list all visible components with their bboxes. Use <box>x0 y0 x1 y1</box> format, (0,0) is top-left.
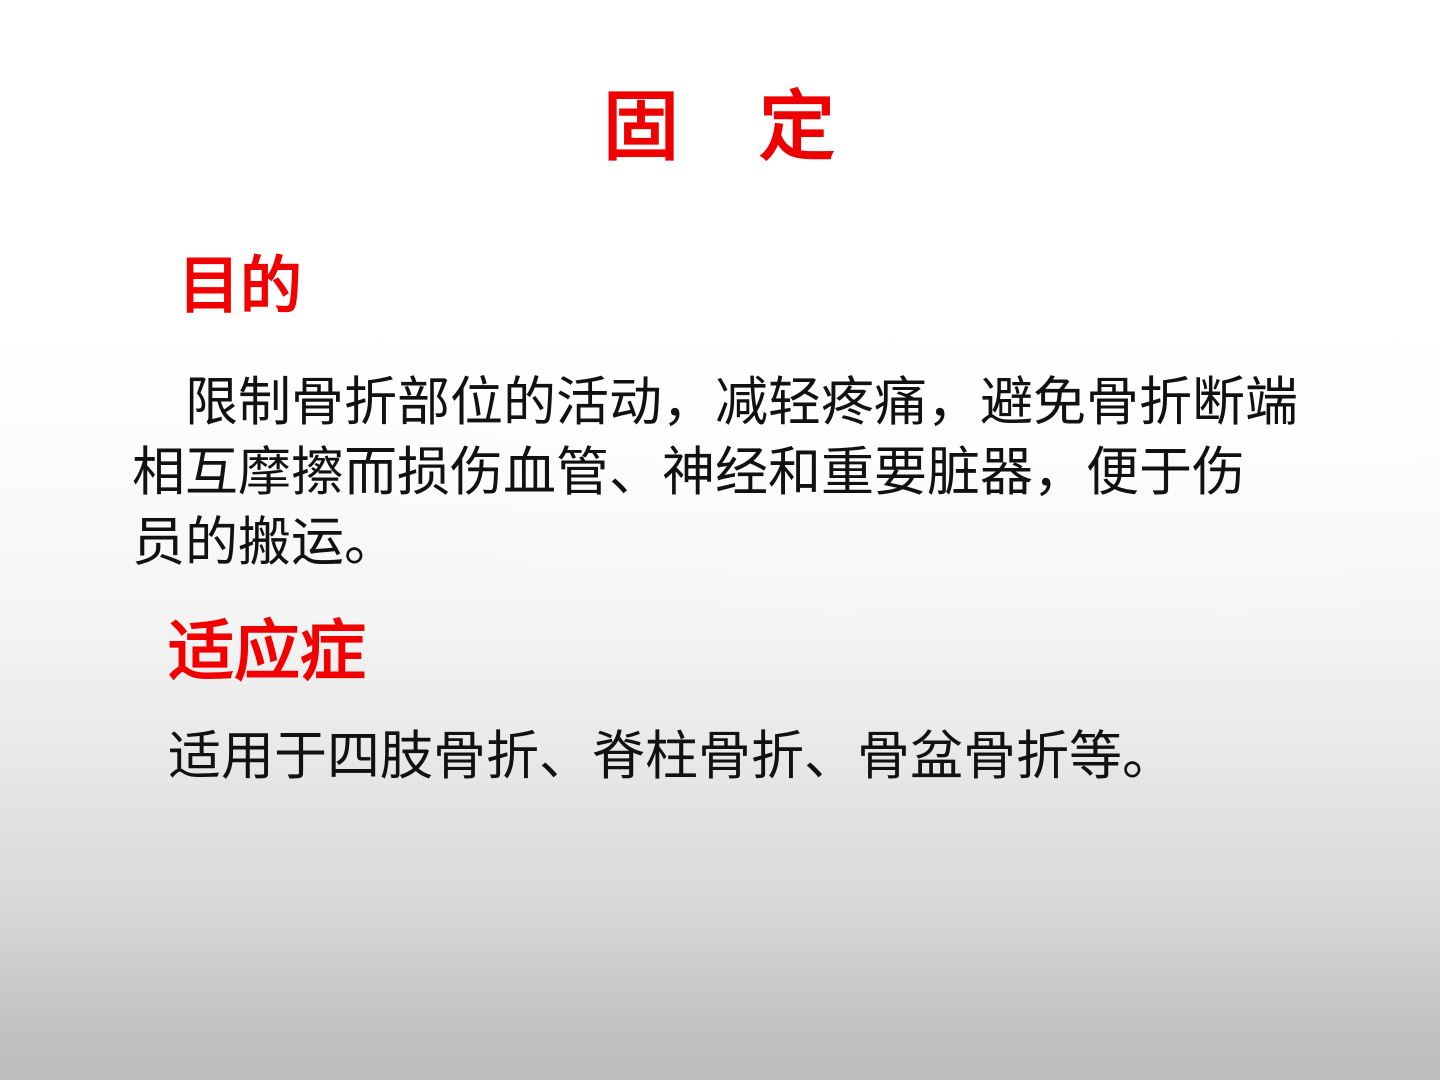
body-line: 员的搬运。 <box>132 508 1354 578</box>
body-line: 限制骨折部位的活动，减轻疼痛，避免骨折断端 <box>132 368 1354 438</box>
body-line: 相互摩擦而损伤血管、神经和重要脏器，便于伤 <box>132 438 1354 508</box>
section-heading-indications: 适应症 <box>168 618 366 684</box>
section-body-indications: 适用于四肢骨折、脊柱骨折、骨盆骨折等。 <box>168 722 1368 792</box>
section-body-purpose: 限制骨折部位的活动，减轻疼痛，避免骨折断端 相互摩擦而损伤血管、神经和重要脏器，… <box>132 368 1354 578</box>
slide-title: 固 定 <box>0 88 1440 168</box>
slide-canvas: 固 定 目的 限制骨折部位的活动，减轻疼痛，避免骨折断端 相互摩擦而损伤血管、神… <box>0 0 1440 1080</box>
section-heading-purpose: 目的 <box>178 256 302 318</box>
slide-content: 固 定 目的 限制骨折部位的活动，减轻疼痛，避免骨折断端 相互摩擦而损伤血管、神… <box>0 0 1440 1080</box>
